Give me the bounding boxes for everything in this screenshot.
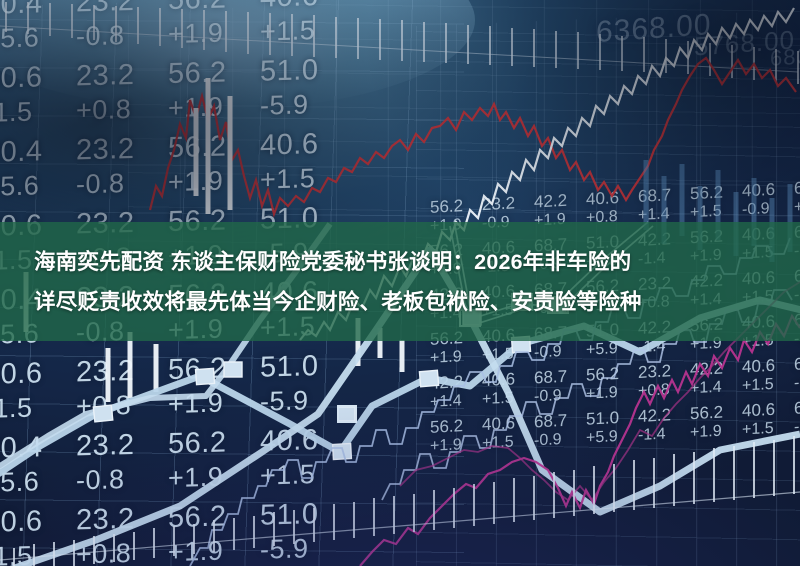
headline-band: 海南奕先配资 东谈主保财险党委秘书张谈明：2026年非车险的 详尽贬责收效将最先…: [0, 222, 800, 341]
article-hero-image: 20.4+5.623.2-0.856.2+1.940.6+1.540.6-1.5…: [0, 0, 800, 566]
page-title: 海南奕先配资 东谈主保财险党委秘书张谈明：2026年非车险的 详尽贬责收效将最先…: [34, 242, 766, 322]
headline-line-2: 详尽贬责收效将最先体当今企财险、老板包袱险、安责险等险种: [34, 282, 766, 322]
headline-line-1: 海南奕先配资 东谈主保财险党委秘书张谈明：2026年非车险的: [34, 250, 631, 274]
